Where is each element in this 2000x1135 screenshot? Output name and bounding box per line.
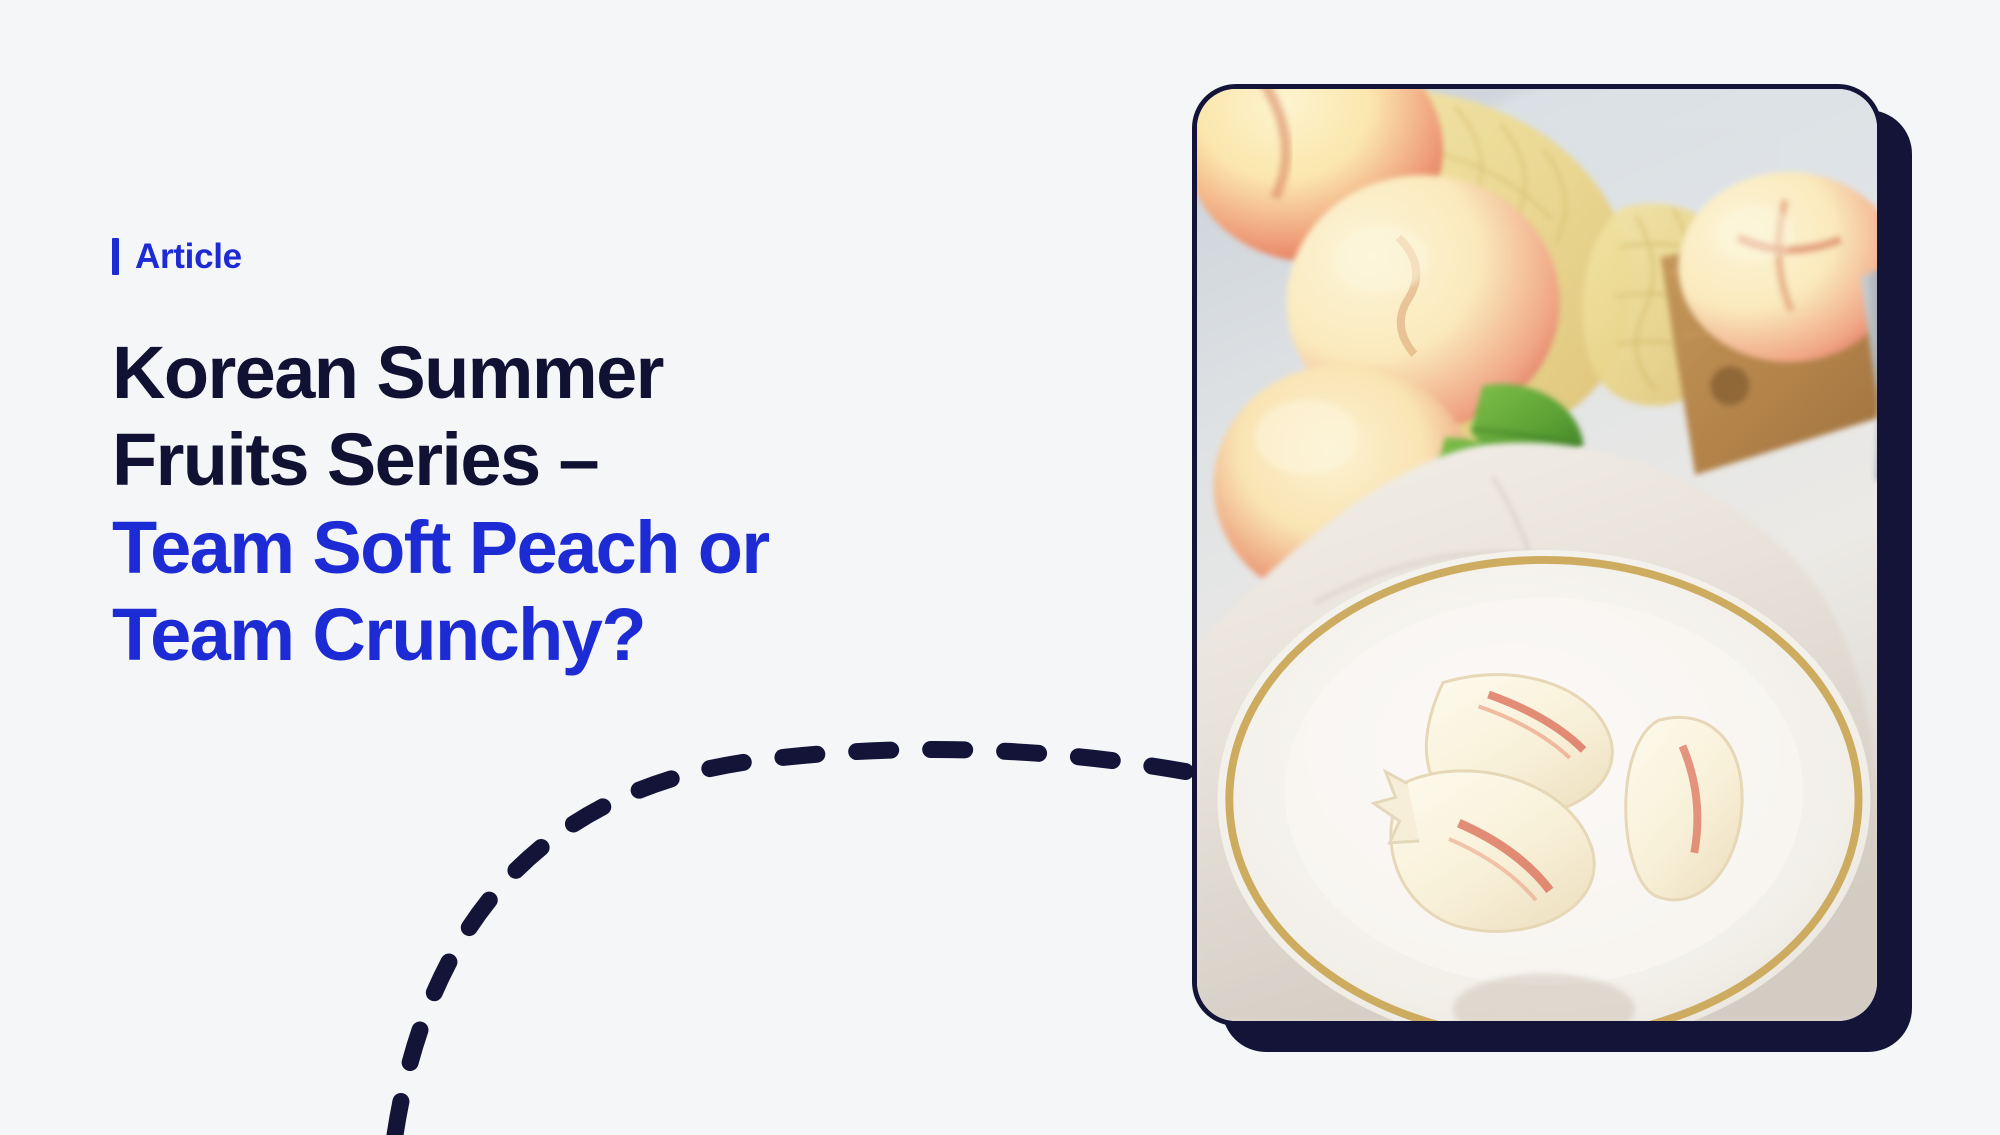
page-title: Korean Summer Fruits Series – Team Soft … (112, 329, 872, 678)
article-hero-banner: Article Korean Summer Fruits Series – Te… (0, 0, 2000, 1135)
vertical-bar-icon (112, 238, 119, 275)
hero-image-card (1192, 84, 1882, 1026)
headline-line-3: Team Soft Peach or (112, 504, 872, 591)
headline-line-2: Fruits Series – (112, 416, 872, 503)
headline-line-4: Team Crunchy? (112, 591, 872, 678)
headline-line-1: Korean Summer (112, 329, 872, 416)
peach-photo (1197, 89, 1877, 1021)
eyebrow-label: Article (135, 239, 242, 274)
hero-image-card-wrapper (1192, 84, 1912, 1052)
eyebrow: Article (112, 238, 872, 275)
hero-text-column: Article Korean Summer Fruits Series – Te… (112, 238, 872, 678)
